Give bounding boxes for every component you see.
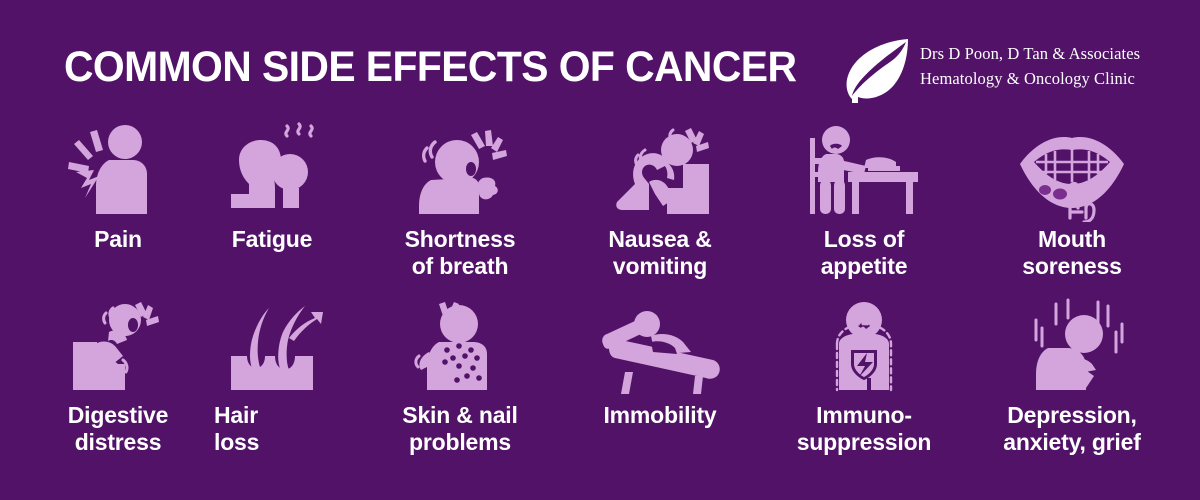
side-effect-label: Nausea & vomiting	[560, 226, 760, 280]
side-effect-item-depression-anxiety-grief: Depression, anxiety, grief	[972, 294, 1172, 466]
side-effect-label: Shortness of breath	[360, 226, 560, 280]
side-effect-item-mouth-soreness: Mouth soreness	[972, 118, 1172, 290]
side-effects-grid: Pain	[0, 118, 1200, 500]
side-effect-item-shortness-of-breath: Shortness of breath	[360, 118, 560, 290]
immobility-icon	[560, 294, 760, 398]
side-effects-row: Digestive distress	[0, 294, 1200, 466]
side-effect-label: Depression, anxiety, grief	[972, 402, 1172, 456]
leaf-icon	[838, 33, 916, 107]
side-effect-label: Mouth soreness	[972, 226, 1172, 280]
mouth-soreness-icon	[972, 118, 1172, 222]
side-effect-item-skin-nail-problems: Skin & nail problems	[360, 294, 560, 466]
fatigue-icon	[172, 118, 372, 222]
hair-loss-icon	[172, 294, 372, 398]
page-title: COMMON SIDE EFFECTS OF CANCER	[64, 40, 767, 95]
side-effect-item-nausea-vomiting: Nausea & vomiting	[560, 118, 760, 290]
side-effect-item-immunosuppression: Immuno- suppression	[764, 294, 964, 466]
side-effect-label: Fatigue	[172, 226, 372, 253]
side-effect-label: Hair loss	[172, 402, 372, 456]
side-effect-item-hair-loss: Hair loss	[172, 294, 372, 466]
clinic-name-line1: Drs D Poon, D Tan & Associates	[920, 41, 1140, 66]
depression-anxiety-grief-icon	[972, 294, 1172, 398]
infographic-banner: COMMON SIDE EFFECTS OF CANCER Drs D Poon…	[0, 0, 1200, 500]
side-effect-label: Loss of appetite	[764, 226, 964, 280]
side-effect-label: Skin & nail problems	[360, 402, 560, 456]
nausea-vomiting-icon	[560, 118, 760, 222]
header: COMMON SIDE EFFECTS OF CANCER Drs D Poon…	[0, 0, 1200, 118]
side-effect-label: Immobility	[560, 402, 760, 429]
side-effect-item-fatigue: Fatigue	[172, 118, 372, 290]
clinic-name: Drs D Poon, D Tan & Associates Hematolog…	[920, 41, 1140, 91]
clinic-name-line2: Hematology & Oncology Clinic	[920, 66, 1140, 91]
loss-of-appetite-icon	[764, 118, 964, 222]
shortness-of-breath-icon	[360, 118, 560, 222]
side-effect-item-immobility: Immobility	[560, 294, 760, 466]
side-effect-label: Immuno- suppression	[764, 402, 964, 456]
side-effects-row: Pain	[0, 118, 1200, 290]
side-effect-item-loss-of-appetite: Loss of appetite	[764, 118, 964, 290]
skin-nail-problems-icon	[360, 294, 560, 398]
clinic-logo: Drs D Poon, D Tan & Associates Hematolog…	[838, 33, 1190, 107]
immunosuppression-icon	[764, 294, 964, 398]
